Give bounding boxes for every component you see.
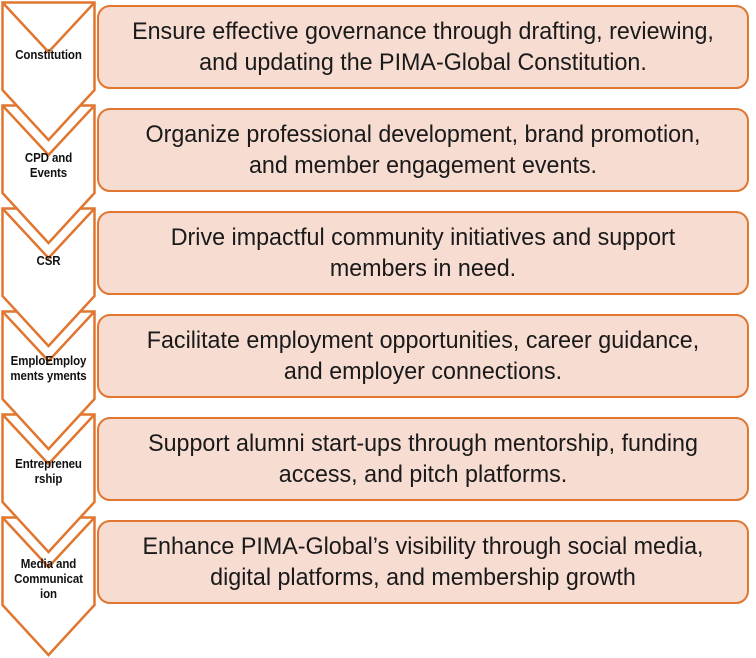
chevron-label: Entrepreneu rship [7, 457, 91, 487]
chevron-label: CPD and Events [7, 151, 91, 181]
chevron-diagram: Constitution Ensure effective governance… [0, 0, 756, 653]
description-callout[interactable]: Ensure effective governance through draf… [97, 5, 749, 89]
chevron-outline [3, 3, 95, 141]
chevron-label: Constitution [7, 48, 91, 63]
chevron-shape-constitution[interactable]: Constitution [0, 0, 97, 143]
diagram-row: Constitution Ensure effective governance… [0, 0, 756, 143]
description-text: Ensure effective governance through draf… [115, 16, 731, 78]
chevron-label: CSR [7, 254, 91, 269]
chevron-label: Media and Communicat ion [7, 557, 91, 602]
chevron-label: EmploEmploy ments yments [7, 354, 91, 384]
